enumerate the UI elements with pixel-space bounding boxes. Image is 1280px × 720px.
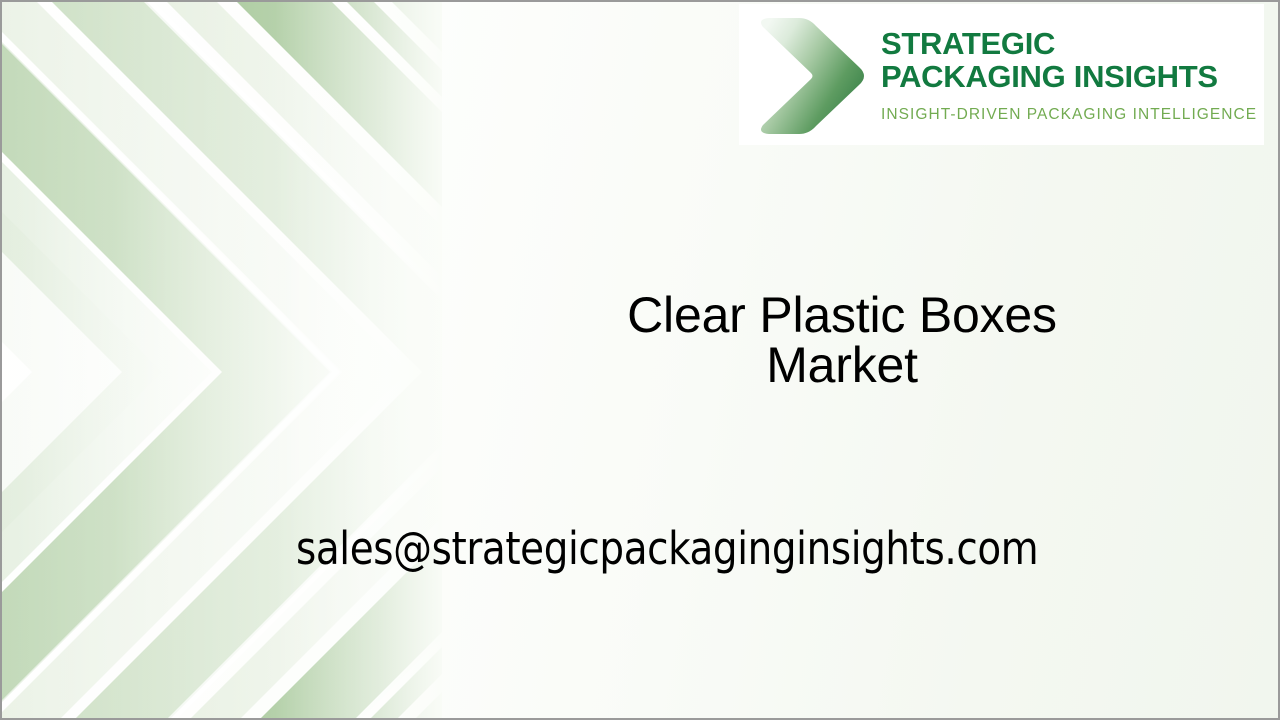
logo-wordmark: STRATEGIC PACKAGING INSIGHTS INSIGHT-DRI…: [881, 27, 1257, 124]
logo-tagline: INSIGHT-DRIVEN PACKAGING INTELLIGENCE: [881, 106, 1257, 124]
diagonal-chevron-bands-decoration: [2, 2, 442, 718]
decoration-svg: [2, 2, 442, 718]
logo-brand-line-1: STRATEGIC: [881, 27, 1257, 60]
page-title: Clear Plastic Boxes Market: [442, 290, 1242, 390]
title-slide: STRATEGIC PACKAGING INSIGHTS INSIGHT-DRI…: [0, 0, 1280, 720]
chevron-arrow-mark-icon: [747, 13, 869, 139]
contact-email: sales@strategicpackaginginsights.com: [296, 520, 1038, 578]
company-logo: STRATEGIC PACKAGING INSIGHTS INSIGHT-DRI…: [739, 4, 1264, 145]
logo-brand-line-2: PACKAGING INSIGHTS: [881, 60, 1257, 93]
